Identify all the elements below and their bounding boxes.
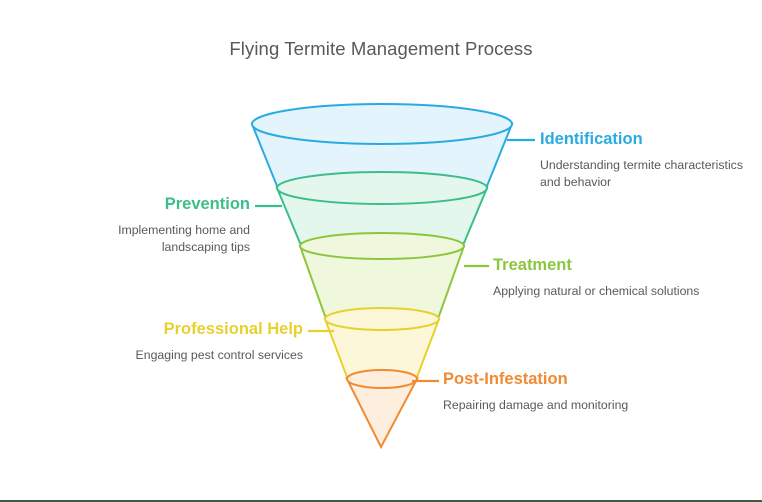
funnel-label-post-infestation-description: Repairing damage and monitoring: [443, 397, 658, 414]
funnel-label-prevention[interactable]: Prevention Implementing home and landsca…: [85, 195, 250, 257]
funnel-label-treatment-description: Applying natural or chemical solutions: [493, 283, 703, 300]
funnel-label-post-infestation[interactable]: Post-Infestation Repairing damage and mo…: [443, 370, 658, 414]
funnel-label-identification-title: Identification: [540, 130, 755, 150]
funnel-segment-post-infestation-top-ellipse: [347, 370, 417, 388]
funnel-segment-post-infestation-body: [347, 379, 417, 447]
funnel-segment-identification-top-ellipse: [252, 104, 512, 144]
funnel-label-prevention-title: Prevention: [85, 195, 250, 215]
funnel-label-treatment-title: Treatment: [493, 256, 703, 276]
funnel-label-identification[interactable]: Identification Understanding termite cha…: [540, 130, 755, 192]
funnel-label-prevention-description: Implementing home and landscaping tips: [85, 222, 250, 257]
funnel-label-identification-description: Understanding termite characteristics an…: [540, 157, 755, 192]
funnel-segment-post-infestation[interactable]: [347, 370, 417, 447]
funnel-segment-prevention-top-ellipse: [277, 172, 487, 204]
funnel-label-treatment[interactable]: Treatment Applying natural or chemical s…: [493, 256, 703, 300]
funnel-label-post-infestation-title: Post-Infestation: [443, 370, 658, 390]
funnel-segment-treatment-top-ellipse: [300, 233, 464, 259]
funnel-segment-professional-help-top-ellipse: [325, 308, 439, 330]
funnel-label-professional-help[interactable]: Professional Help Engaging pest control …: [120, 320, 303, 364]
funnel-label-professional-help-description: Engaging pest control services: [120, 347, 303, 364]
funnel-label-professional-help-title: Professional Help: [120, 320, 303, 340]
